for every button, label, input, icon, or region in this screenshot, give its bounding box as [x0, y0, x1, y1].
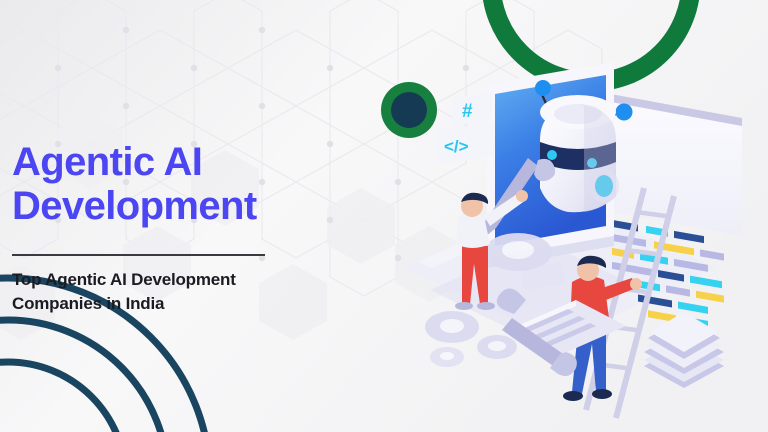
- headline-line-1: Agentic AI: [12, 140, 352, 184]
- svg-text:#: #: [462, 101, 473, 122]
- title-divider: [12, 254, 265, 256]
- antenna-ball-right: [616, 104, 633, 121]
- gear-tiny: [430, 347, 464, 367]
- page-title: Agentic AI Development: [12, 140, 352, 228]
- subhead-line-1: Top Agentic AI Development: [12, 268, 312, 292]
- antenna-ball-left: [535, 80, 551, 96]
- gear-small: [477, 335, 517, 359]
- code-brackets-icon-card: </>: [436, 122, 494, 164]
- gear-large-top: [484, 233, 552, 271]
- svg-text:</>: </>: [444, 137, 469, 156]
- page-subtitle: Top Agentic AI Development Companies in …: [12, 268, 312, 316]
- gear-medium: [425, 311, 479, 343]
- banner-canvas: # </>: [0, 0, 768, 432]
- hash-icon-card: #: [452, 92, 492, 126]
- stacked-papers: [644, 312, 724, 388]
- headline-block: Agentic AI Development Top Agentic AI De…: [12, 140, 352, 228]
- headline-line-2: Development: [12, 184, 352, 228]
- subhead-line-2: Companies in India: [12, 292, 312, 316]
